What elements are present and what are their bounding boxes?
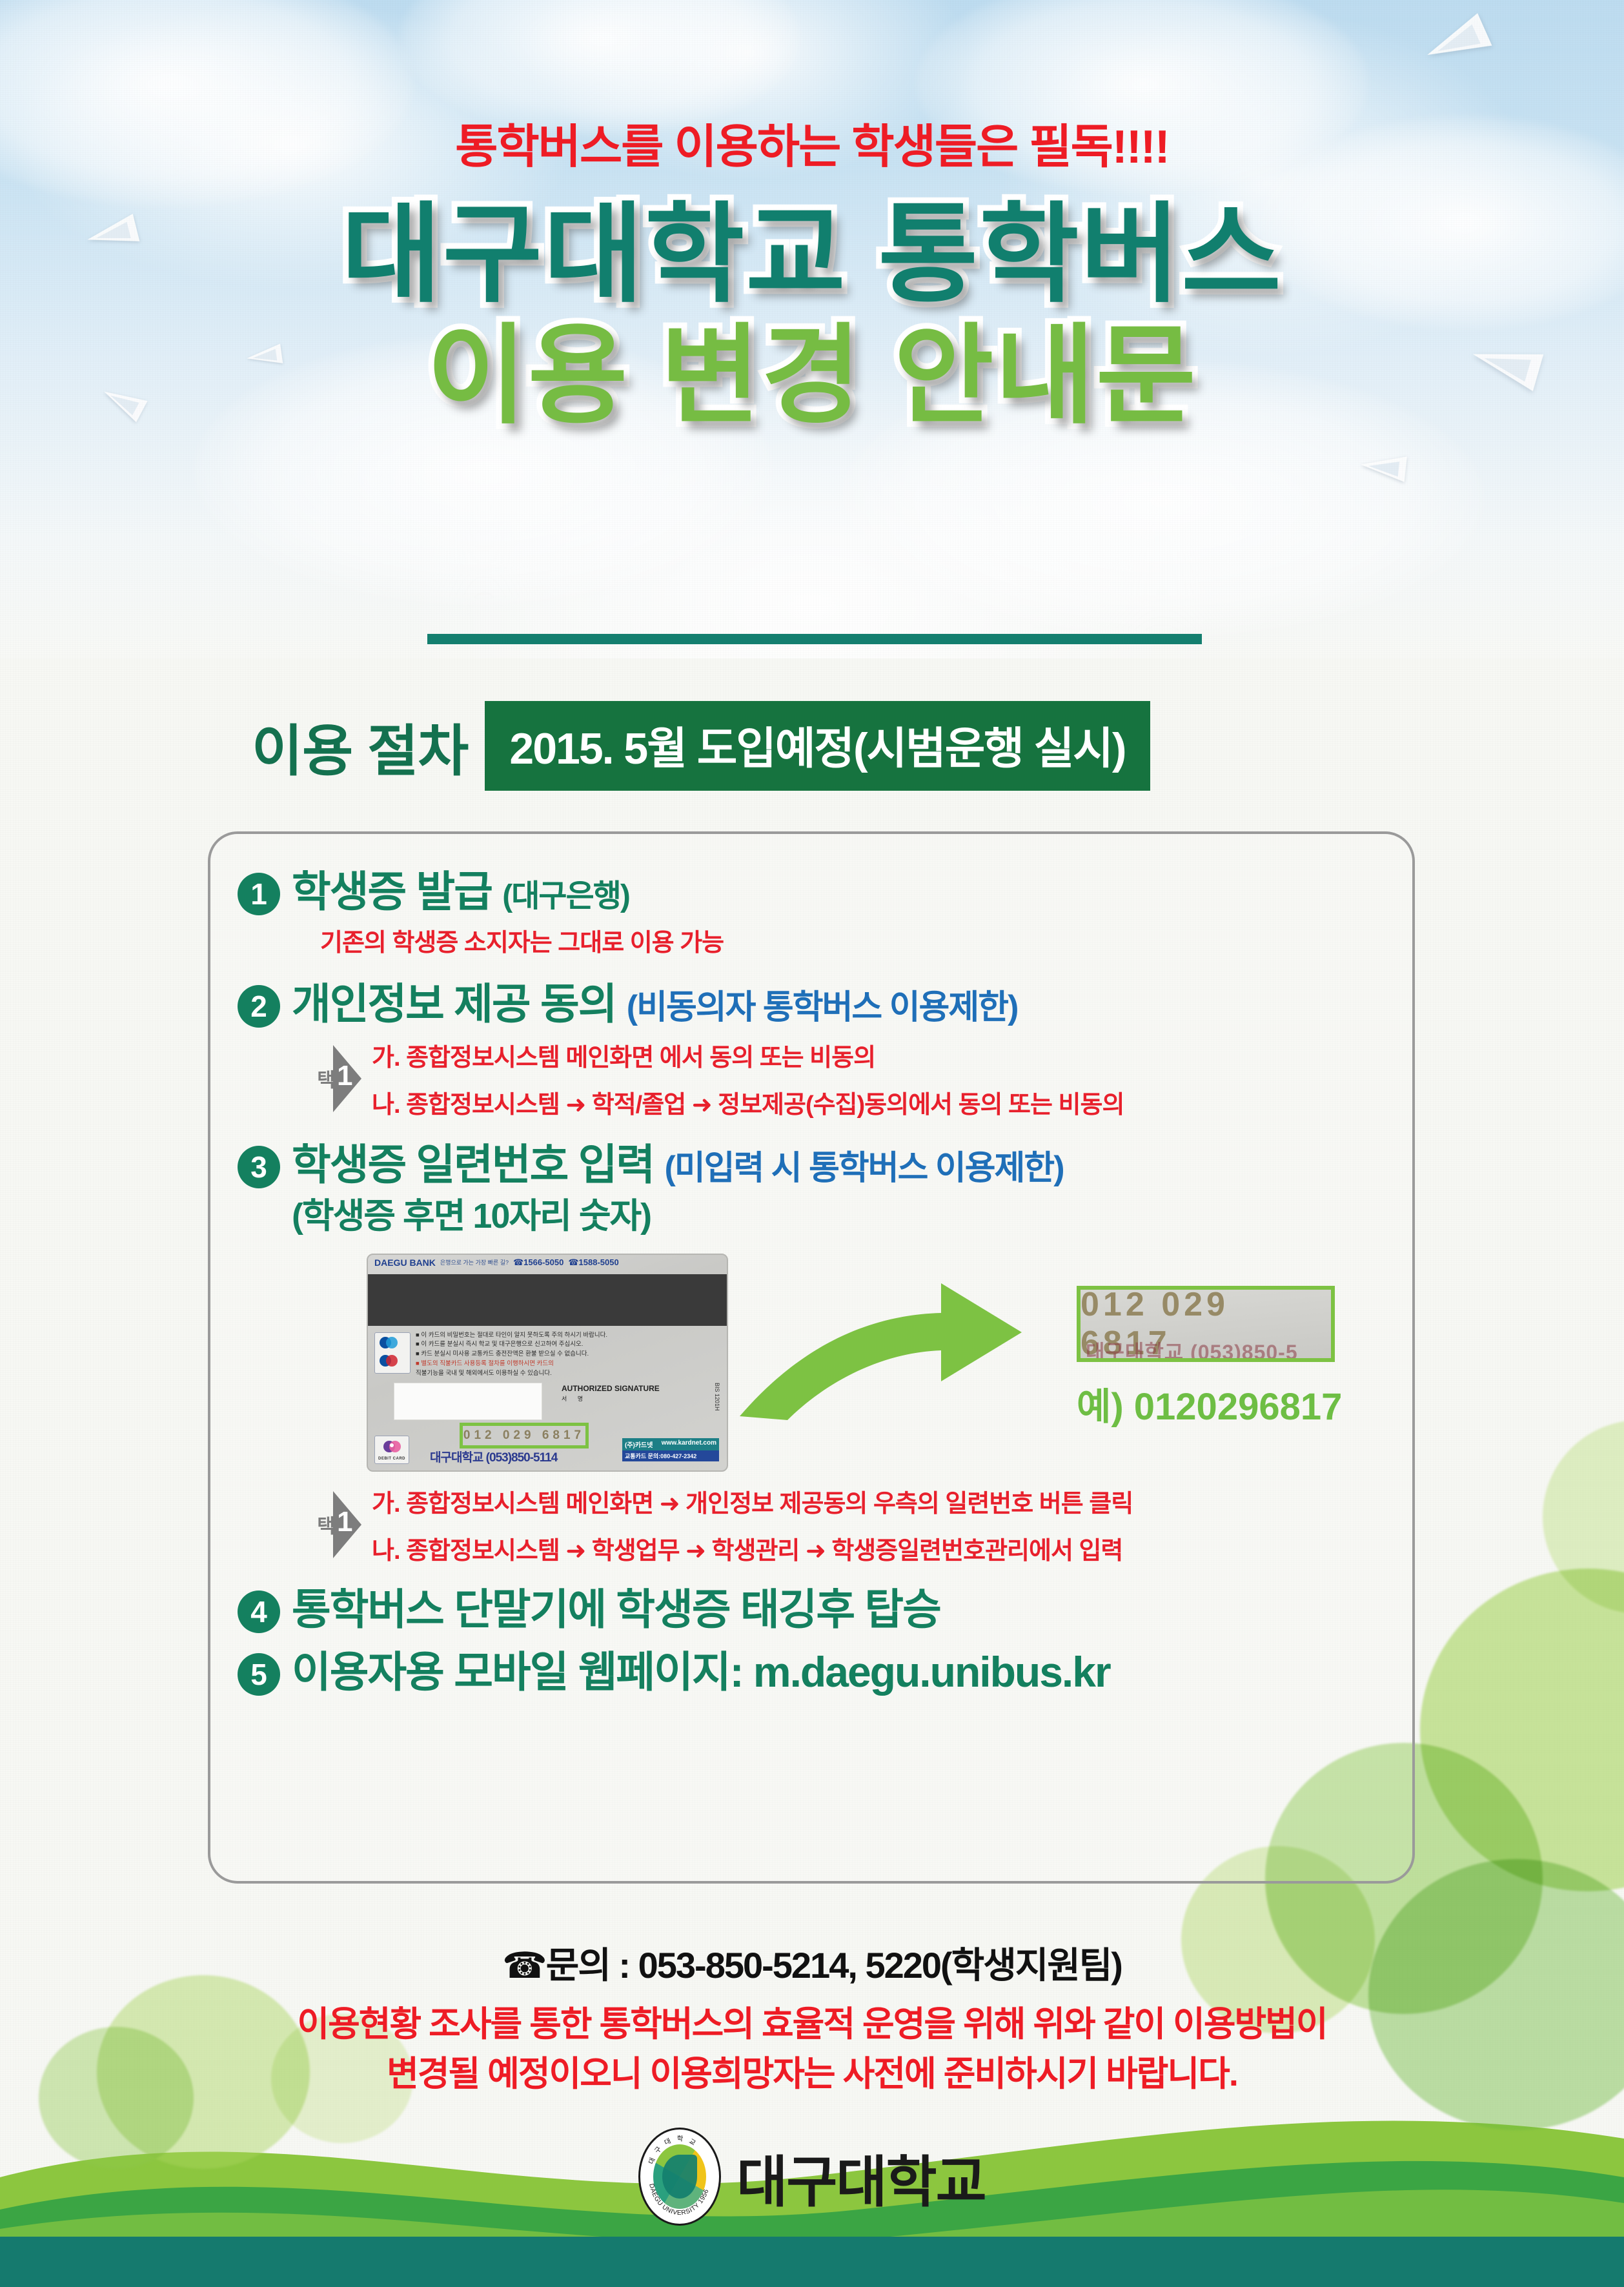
card-bullet-1: ■ 이 카드의 비밀번호는 절대로 타인이 알지 못하도록 주의 하시기 바랍니… (416, 1331, 700, 1341)
title-line-2: 이용 변경 안내문 (0, 315, 1624, 436)
watercolor-blob (1420, 1569, 1624, 1891)
bottom-teal-bar (0, 2237, 1624, 2287)
serial-callout-box: 012 029 6817 대구대학교 (053)850-5 (1077, 1286, 1335, 1362)
step-5: 5 이용자용 모바일 웹페이지: m.daegu.unibus.kr (238, 1648, 1385, 1696)
step-2-pick-block: 택 1 가. 종합정보시스템 메인화면 에서 동의 또는 비동의 나. 종합정보… (314, 1037, 1385, 1120)
step-3-title-text: 학생증 일련번호 입력 (292, 1141, 654, 1188)
step-3-paren: (미입력 시 통학버스 이용제한) (665, 1150, 1064, 1187)
card-slogan: 은행으로 가는 가장 빠른 길? (440, 1258, 509, 1266)
debit-logo-icon (381, 1438, 402, 1455)
warning-text: 이용현황 조사를 통한 통학버스의 효율적 운영을 위해 위와 같이 이용방법이… (0, 2000, 1624, 2099)
step-2-pick-number: 1 (337, 1062, 352, 1090)
card-serial-highlight: 012 029 6817 (460, 1423, 589, 1448)
step-3-option-a: 가. 종합정보시스템 메인화면 ➜ 개인정보 제공동의 우측의 일련번호 버튼 … (372, 1483, 1133, 1519)
title-line-1: 대구대학교 통학버스 (0, 194, 1624, 315)
step-3-pick-label: 택 (314, 1516, 333, 1534)
card-bis-code: BIS 1201H (714, 1383, 720, 1411)
university-wordmark: 대구대학교 (736, 2137, 986, 2217)
warning-line-1: 이용현황 조사를 통한 통학버스의 효율적 운영을 위해 위와 같이 이용방법이 (0, 2000, 1624, 2049)
step-2-option-a: 가. 종합정보시스템 메인화면 에서 동의 또는 비동의 (372, 1037, 1124, 1073)
watercolor-blob (1543, 1420, 1624, 1614)
warning-line-2: 변경될 예정이오니 이용희망자는 사전에 준비하시기 바랍니다. (0, 2049, 1624, 2099)
student-card-illustration: DAEGU BANK 은행으로 가는 가장 빠른 길? ☎1566-5050 ☎… (367, 1254, 1348, 1473)
card-bullet-2: ■ 이 카드를 분실시 즉시 학교 및 대구은행으로 신고하여 주십시오. (416, 1340, 700, 1350)
section-date-chip: 2015. 5월 도입예정(시범운행 실시) (485, 701, 1150, 791)
card-bullet-3: ■ 카드 분실시 미사용 교통카드 충전잔액은 환불 받으실 수 없습니다. (416, 1350, 700, 1359)
auth-sig-ko: 서 명 (562, 1396, 660, 1403)
card-bank-header: DAEGU BANK 은행으로 가는 가장 빠른 길? ☎1566-5050 ☎… (368, 1257, 727, 1268)
step-3-subtitle: (학생증 후면 10자리 숫자) (292, 1187, 1385, 1238)
step-5-number: 5 (238, 1653, 280, 1696)
step-3-pick-block: 택 1 가. 종합정보시스템 메인화면 ➜ 개인정보 제공동의 우측의 일련번호… (314, 1483, 1385, 1566)
magnetic-stripe (368, 1274, 727, 1326)
pick-arrow-icon: 1 (333, 1045, 361, 1112)
kardnet-subtext: 교통카드 문의:080-427-2342 (622, 1450, 719, 1461)
university-logo-row: 대 구 대 학 교 DAEGU UNIVERSITY 1956 대구대학교 (0, 2128, 1624, 2226)
step-2-options: 가. 종합정보시스템 메인화면 에서 동의 또는 비동의 나. 종합정보시스템 … (372, 1037, 1124, 1120)
step-4-head: 4 통학버스 단말기에 학생증 태깅후 탑승 (238, 1585, 1385, 1634)
seal-emblem-icon (653, 2144, 706, 2209)
university-seal-icon: 대 구 대 학 교 DAEGU UNIVERSITY 1956 (638, 2128, 721, 2226)
step-3-head: 3 학생증 일련번호 입력 (미입력 시 통학버스 이용제한) (238, 1141, 1385, 1189)
step-1-title-text: 학생증 발급 (292, 868, 492, 915)
step-1-note: 기존의 학생증 소지자는 그대로 이용 가능 (320, 922, 1385, 958)
serial-example-text: 예) 0120296817 (1077, 1376, 1341, 1430)
step-4: 4 통학버스 단말기에 학생증 태깅후 탑승 (238, 1585, 1385, 1634)
authorized-signature-label: AUTHORIZED SIGNATURE 서 명 (562, 1384, 660, 1403)
card-university-tel: 대구대학교 (053)850-5114 (430, 1448, 557, 1465)
card-bank-name: DAEGU BANK (374, 1257, 436, 1268)
debit-card-label: DEBIT CARD (375, 1457, 409, 1461)
step-4-number: 4 (238, 1591, 280, 1633)
step-1-paren: (대구은행) (502, 879, 629, 913)
step-3: 3 학생증 일련번호 입력 (미입력 시 통학버스 이용제한) (학생증 후면 … (238, 1141, 1385, 1565)
card-bullet-5: 직불기능을 국내 및 해외에서도 이용하실 수 있습니다. (416, 1369, 700, 1379)
step-5-title: 이용자용 모바일 웹페이지: m.daegu.unibus.kr (292, 1648, 1110, 1696)
step-2-paren: (비동의자 통학버스 이용제한) (627, 989, 1018, 1026)
step-2-number: 2 (238, 985, 280, 1028)
procedure-step-list: 1 학생증 발급 (대구은행) 기존의 학생증 소지자는 그대로 이용 가능 2… (208, 831, 1415, 1884)
bank-card-back: DAEGU BANK 은행으로 가는 가장 빠른 길? ☎1566-5050 ☎… (367, 1254, 728, 1472)
card-university-tel-text: 대구대학교 (053)850-5114 (430, 1451, 557, 1465)
title-divider (427, 634, 1202, 644)
serial-callout-ghost-text: 대구대학교 (053)850-5 (1086, 1336, 1298, 1362)
signature-panel (394, 1383, 542, 1420)
step-3-pick-marker: 택 1 (314, 1491, 361, 1558)
kicker-headline: 통학버스를 이용하는 학생들은 필독!!!! (0, 108, 1624, 176)
step-2: 2 개인정보 제공 동의 (비동의자 통학버스 이용제한) 택 1 가. 종합정… (238, 980, 1385, 1120)
step-5-head: 5 이용자용 모바일 웹페이지: m.daegu.unibus.kr (238, 1648, 1385, 1696)
kardnet-url: www.kardnet.com (662, 1439, 716, 1449)
auth-sig-en: AUTHORIZED SIGNATURE (562, 1384, 660, 1393)
step-3-option-b: 나. 종합정보시스템 ➜ 학생업무 ➜ 학생관리 ➜ 학생증일련번호관리에서 입… (372, 1530, 1133, 1566)
cirrus-maestro-logo (374, 1332, 411, 1374)
step-3-options: 가. 종합정보시스템 메인화면 ➜ 개인정보 제공동의 우측의 일련번호 버튼 … (372, 1483, 1133, 1566)
pick-arrow-icon: 1 (333, 1491, 361, 1558)
card-bullet-4: ■ 별도의 직불카드 사용등록 절차를 이행하시면 카드의 (416, 1359, 700, 1369)
contact-line: ☎문의 : 053-850-5214, 5220(학생지원팀) (0, 1936, 1624, 1989)
debit-card-badge: DEBIT CARD (374, 1436, 409, 1464)
serial-callout: 012 029 6817 대구대학교 (053)850-5 예) 0120296… (1077, 1286, 1341, 1430)
step-2-title: 개인정보 제공 동의 (비동의자 통학버스 이용제한) (292, 980, 1017, 1028)
step-1-head: 1 학생증 발급 (대구은행) (238, 868, 1385, 916)
section-heading-row: 이용 절차 2015. 5월 도입예정(시범운행 실시) (252, 701, 1150, 791)
step-3-number: 3 (238, 1146, 280, 1188)
step-2-pick-marker: 택 1 (314, 1045, 361, 1112)
step-2-pick-label: 택 (314, 1070, 333, 1088)
step-3-title: 학생증 일련번호 입력 (미입력 시 통학버스 이용제한) (292, 1141, 1064, 1189)
kardnet-header: (주)카드넷 www.kardnet.com (622, 1438, 719, 1450)
step-1-title: 학생증 발급 (대구은행) (292, 868, 629, 916)
step-2-head: 2 개인정보 제공 동의 (비동의자 통학버스 이용제한) (238, 980, 1385, 1028)
card-tel-1: ☎1566-5050 (513, 1257, 563, 1268)
kardnet-block: (주)카드넷 www.kardnet.com 교통카드 문의:080-427-2… (622, 1438, 719, 1461)
card-tel-2: ☎1588-5050 (568, 1257, 618, 1268)
poster-title: 대구대학교 통학버스 이용 변경 안내문 (0, 194, 1624, 436)
step-4-title: 통학버스 단말기에 학생증 태깅후 탑승 (292, 1585, 940, 1634)
step-1: 1 학생증 발급 (대구은행) 기존의 학생증 소지자는 그대로 이용 가능 (238, 868, 1385, 958)
card-notice-text: ■ 이 카드의 비밀번호는 절대로 타인이 알지 못하도록 주의 하시기 바랍니… (416, 1331, 700, 1379)
step-3-pick-number: 1 (337, 1508, 352, 1536)
step-1-number: 1 (238, 873, 280, 915)
step-2-title-text: 개인정보 제공 동의 (292, 980, 616, 1028)
section-label: 이용 절차 (252, 706, 468, 786)
step-2-option-b: 나. 종합정보시스템 ➜ 학적/졸업 ➜ 정보제공(수집)동의에서 동의 또는 … (372, 1084, 1124, 1120)
green-curved-arrow-icon (728, 1273, 1064, 1421)
kardnet-name: (주)카드넷 (625, 1439, 653, 1449)
poster-root: 통학버스를 이용하는 학생들은 필독!!!! 대구대학교 통학버스 이용 변경 … (0, 0, 1624, 2287)
